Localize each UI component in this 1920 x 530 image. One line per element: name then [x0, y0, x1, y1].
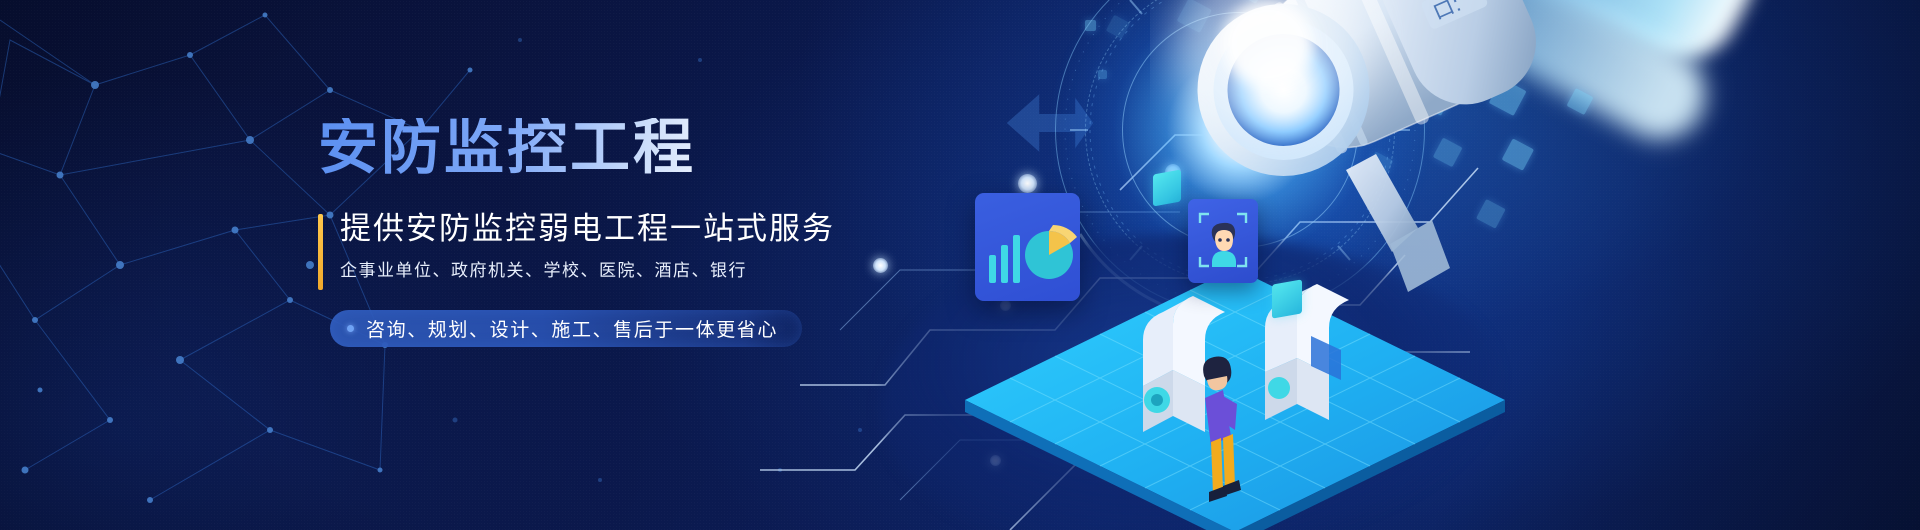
- service-tag-pill[interactable]: 咨询、规划、设计、施工、售后于一体更省心: [330, 310, 802, 347]
- subtitle-group: 提供安防监控弱电工程一站式服务 企事业单位、政府机关、学校、医院、酒店、银行: [318, 210, 958, 282]
- face-avatar-icon: [1212, 223, 1236, 267]
- analytics-dashboard-card: [975, 193, 1080, 301]
- floating-chip: [1153, 170, 1181, 207]
- subtitle-primary: 提供安防监控弱电工程一站式服务: [340, 210, 958, 249]
- face-recognition-card: [1188, 199, 1258, 283]
- pie-chart-icon: [1025, 225, 1077, 279]
- leg-back: [1211, 438, 1223, 494]
- service-tag-label: 咨询、规划、设计、施工、售后于一体更省心: [366, 315, 778, 342]
- bar-chart-icon: [989, 235, 1020, 283]
- pill-bullet-icon: [347, 325, 354, 332]
- subtitle-secondary: 企事业单位、政府机关、学校、医院、酒店、银行: [340, 260, 958, 282]
- floating-chip: [1272, 279, 1302, 318]
- page-title: 安防监控工程: [318, 118, 958, 178]
- security-monitoring-banner: ロ:: [0, 0, 1920, 530]
- accent-bar: [318, 214, 323, 290]
- banner-text-block: 安防监控工程 提供安防监控弱电工程一站式服务 企事业单位、政府机关、学校、医院、…: [318, 118, 958, 347]
- leg-front: [1223, 434, 1235, 490]
